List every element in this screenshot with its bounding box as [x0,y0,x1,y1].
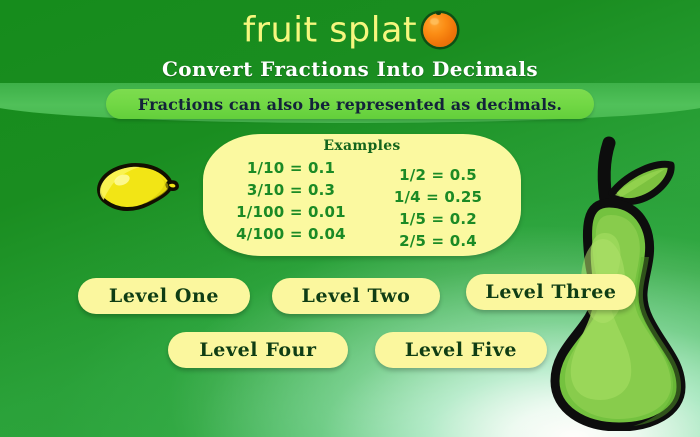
level-three-button[interactable]: Level Three [466,274,636,310]
example-line: 2/5 = 0.4 [399,230,477,252]
level-three-label: Level Three [485,281,616,303]
examples-right-column: 1/2 = 0.5 1/4 = 0.25 1/5 = 0.2 2/5 = 0.4 [367,157,509,252]
examples-columns: 1/10 = 0.1 3/10 = 0.3 1/100 = 0.01 4/100… [203,157,521,252]
level-one-label: Level One [109,285,219,307]
example-line: 1/2 = 0.5 [399,164,477,186]
example-line: 4/100 = 0.04 [236,223,346,245]
level-one-button[interactable]: Level One [78,278,250,314]
example-line: 3/10 = 0.3 [247,179,335,201]
example-line: 1/5 = 0.2 [399,208,477,230]
level-five-label: Level Five [405,339,517,361]
examples-left-column: 1/10 = 0.1 3/10 = 0.3 1/100 = 0.01 4/100… [215,157,367,252]
game-screen: fruit splat Convert Fractions Into Decim… [0,0,700,437]
statement-text: Fractions can also be represented as dec… [138,95,562,114]
level-four-button[interactable]: Level Four [168,332,348,368]
statement-banner: Fractions can also be represented as dec… [106,89,594,119]
example-line: 1/4 = 0.25 [394,186,482,208]
examples-panel: Examples 1/10 = 0.1 3/10 = 0.3 1/100 = 0… [203,134,521,256]
page-title: fruit splat [243,11,417,51]
game-title-row: fruit splat [0,6,700,54]
level-two-label: Level Two [302,285,411,307]
level-five-button[interactable]: Level Five [375,332,547,368]
lemon-fruit-illustration [92,158,184,220]
level-two-button[interactable]: Level Two [272,278,440,314]
page-subtitle: Convert Fractions Into Decimals [0,57,700,81]
orange-fruit-icon [423,13,457,47]
level-four-label: Level Four [199,339,316,361]
example-line: 1/10 = 0.1 [247,157,335,179]
examples-heading: Examples [203,138,521,154]
example-line: 1/100 = 0.01 [236,201,346,223]
